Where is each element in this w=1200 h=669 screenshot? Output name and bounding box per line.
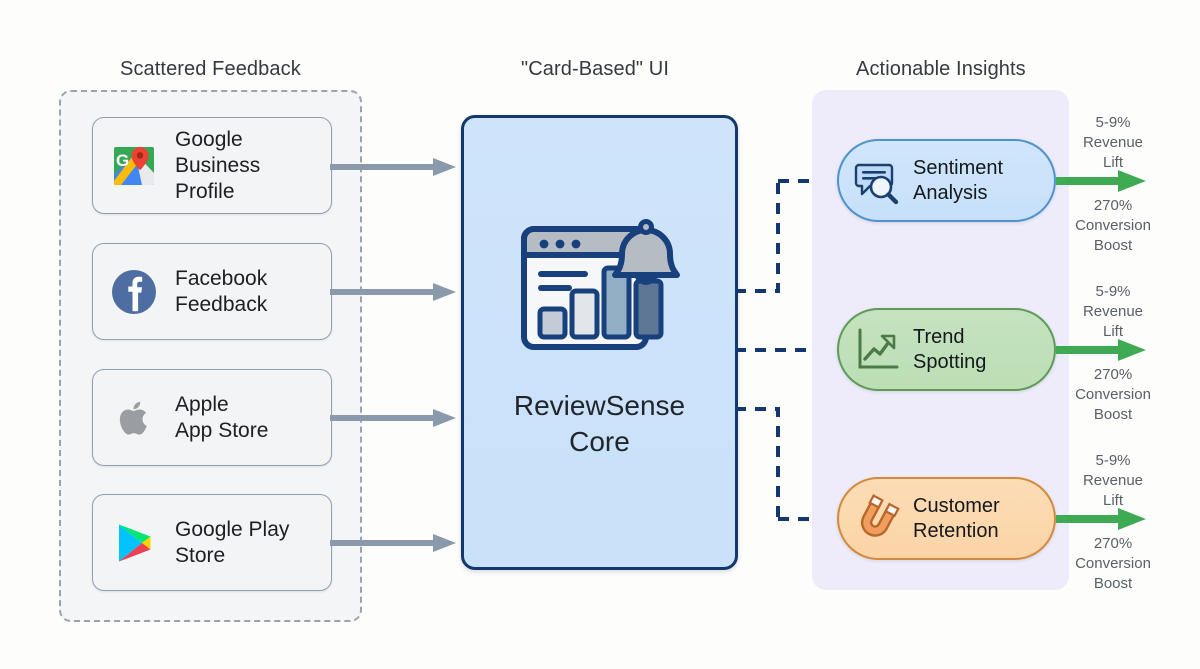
outcome-conversion-boost-2: 270%ConversionBoost — [1060, 365, 1166, 425]
insight-label: TrendSpotting — [913, 325, 986, 375]
insight-label: CustomerRetention — [913, 494, 1000, 544]
source-card-apple-app-store[interactable]: AppleApp Store — [92, 369, 332, 466]
source-label: FacebookFeedback — [175, 266, 267, 318]
apple-icon — [107, 391, 161, 445]
outcome-revenue-lift-2: 5-9%RevenueLift — [1060, 282, 1166, 342]
column-title-actionable-insights: Actionable Insights — [856, 58, 1026, 81]
diagram-canvas: Scattered Feedback "Card-Based" UI Actio… — [0, 0, 1200, 669]
trend-chart-icon — [851, 324, 903, 376]
speech-search-icon — [851, 155, 903, 207]
source-label: GoogleBusinessProfile — [175, 127, 260, 205]
flow-arrow-source-to-core-1 — [330, 156, 458, 178]
magnet-icon — [851, 493, 903, 545]
google-play-icon — [107, 516, 161, 570]
flow-arrow-source-to-core-4 — [330, 532, 458, 554]
google-maps-icon: G — [107, 139, 161, 193]
flow-arrow-source-to-core-3 — [330, 407, 458, 429]
svg-text:G: G — [116, 151, 129, 170]
outcome-conversion-boost-3: 270%ConversionBoost — [1060, 534, 1166, 594]
source-label: Google PlayStore — [175, 517, 289, 569]
source-card-google-business-profile[interactable]: G GoogleBusinessProfile — [92, 117, 332, 214]
column-title-card-based-ui: "Card-Based" UI — [521, 58, 669, 81]
source-card-facebook-feedback[interactable]: FacebookFeedback — [92, 243, 332, 340]
source-card-google-play-store[interactable]: Google PlayStore — [92, 494, 332, 591]
insight-card-sentiment-analysis[interactable]: SentimentAnalysis — [837, 139, 1056, 222]
facebook-icon — [107, 265, 161, 319]
flow-arrow-source-to-core-2 — [330, 281, 458, 303]
outcome-conversion-boost-1: 270%ConversionBoost — [1060, 196, 1166, 256]
insight-card-customer-retention[interactable]: CustomerRetention — [837, 477, 1056, 560]
dashboard-bell-icon — [510, 215, 690, 370]
insight-label: SentimentAnalysis — [913, 156, 1003, 206]
outcome-revenue-lift-1: 5-9%RevenueLift — [1060, 113, 1166, 173]
source-label: AppleApp Store — [175, 392, 268, 444]
column-title-scattered-feedback: Scattered Feedback — [120, 58, 301, 81]
outcome-revenue-lift-3: 5-9%RevenueLift — [1060, 451, 1166, 511]
core-label: ReviewSenseCore — [461, 388, 738, 460]
insight-card-trend-spotting[interactable]: TrendSpotting — [837, 308, 1056, 391]
